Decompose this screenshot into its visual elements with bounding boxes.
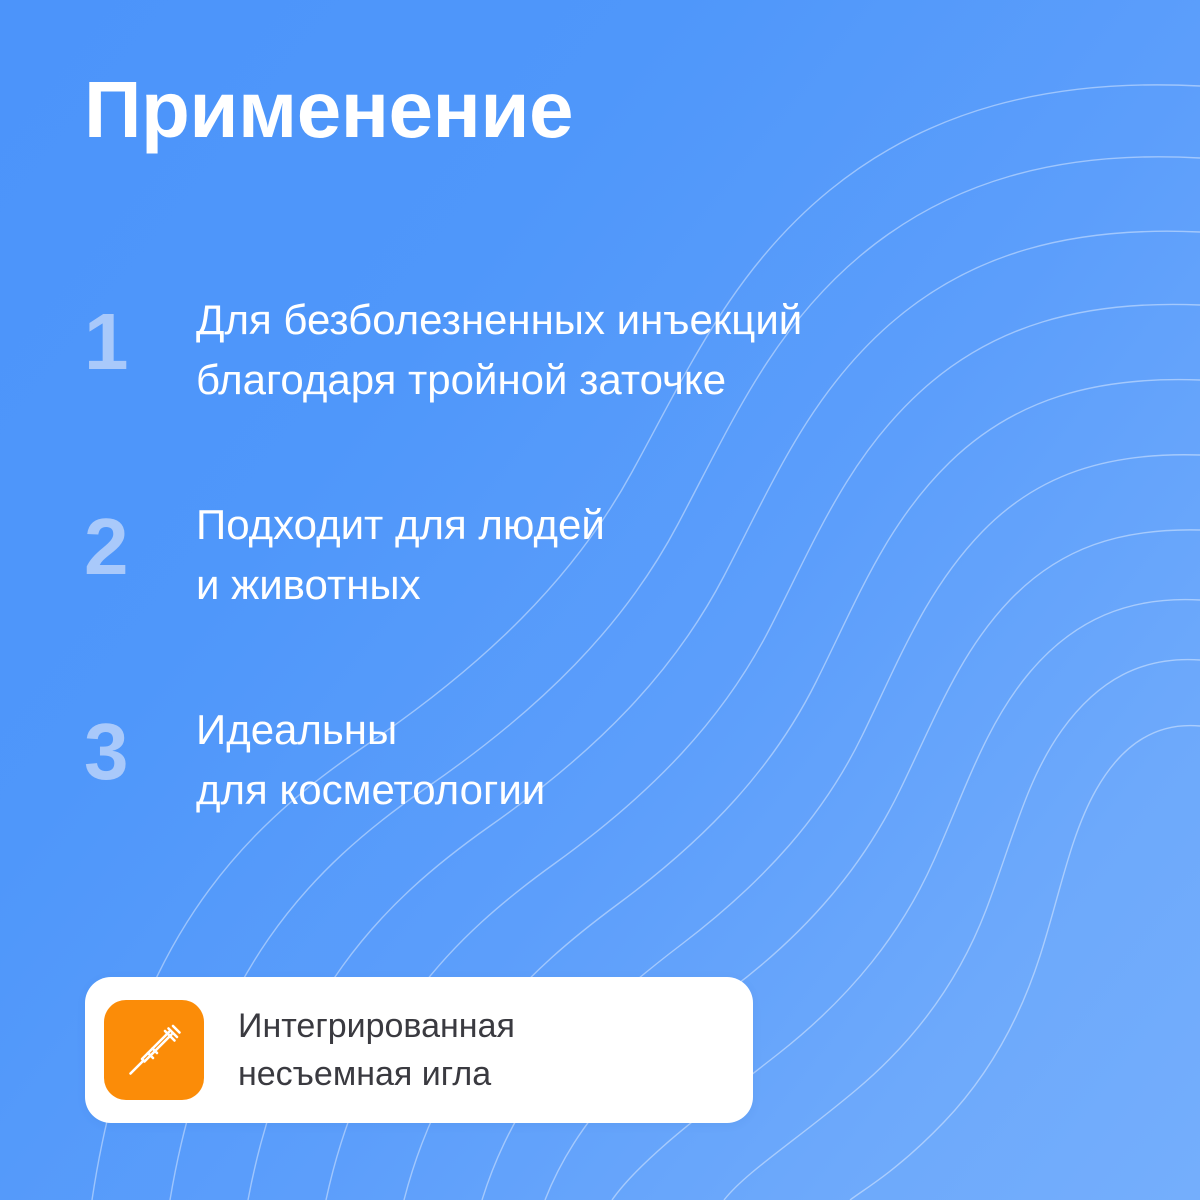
list-item-text: Для безболезненных инъекций благодаря тр…: [196, 288, 1044, 411]
list-item-line: благодаря тройной заточке: [196, 350, 1044, 410]
list-item-line: для косметологии: [196, 760, 1044, 820]
list-item-line: Для безболезненных инъекций: [196, 290, 1044, 350]
feature-card-line: несъемная игла: [238, 1050, 515, 1098]
list-item-line: Подходит для людей: [196, 495, 1044, 555]
list-item-line: Идеальны: [196, 700, 1044, 760]
syringe-icon: [104, 1000, 204, 1100]
feature-card: Интегрированная несъемная игла: [85, 977, 753, 1123]
list-item-line: и животных: [196, 555, 1044, 615]
list-item: 3 Идеальны для косметологии: [84, 698, 1044, 821]
list-item: 2 Подходит для людей и животных: [84, 493, 1044, 616]
feature-card-line: Интегрированная: [238, 1002, 515, 1050]
list-item-number: 2: [84, 493, 196, 587]
list-item-number: 1: [84, 288, 196, 382]
feature-card-text: Интегрированная несъемная игла: [238, 1002, 515, 1099]
list-item: 1 Для безболезненных инъекций благодаря …: [84, 288, 1044, 411]
list-item-text: Идеальны для косметологии: [196, 698, 1044, 821]
promo-slide: Применение 1 Для безболезненных инъекций…: [0, 0, 1200, 1200]
page-title: Применение: [84, 68, 573, 152]
list-item-number: 3: [84, 698, 196, 792]
benefits-list: 1 Для безболезненных инъекций благодаря …: [84, 288, 1044, 821]
list-item-text: Подходит для людей и животных: [196, 493, 1044, 616]
